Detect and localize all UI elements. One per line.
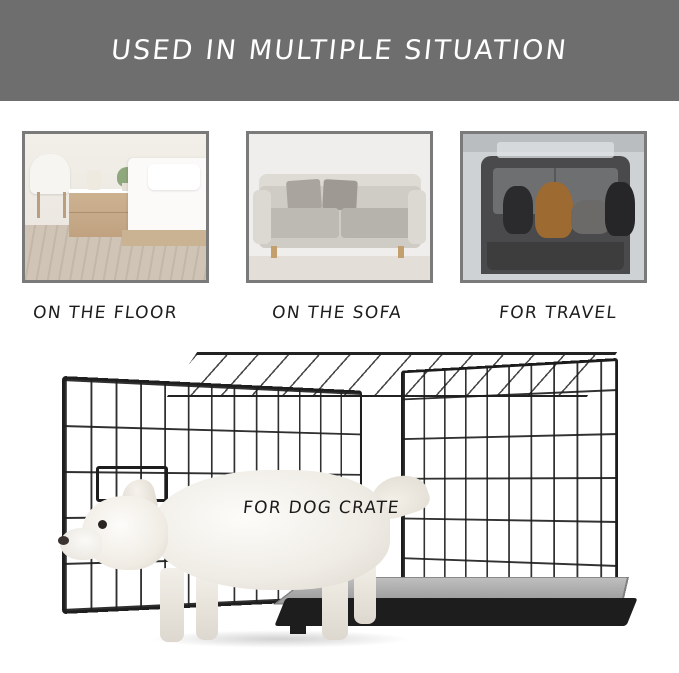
bed-pillow	[148, 164, 200, 190]
sofa-arm-left	[253, 190, 271, 244]
car-rear-window	[497, 142, 614, 158]
chair-leg-left	[37, 192, 40, 218]
dog-nose	[58, 536, 69, 545]
product-infographic: USED IN MULTIPLE SITUATION	[0, 0, 679, 673]
dog-eye	[98, 520, 107, 529]
sofa-leg-left	[271, 246, 277, 258]
caption-on-the-floor: ON THE FLOOR	[32, 303, 179, 323]
sofa-cushion-right	[341, 208, 413, 238]
dog-front-leg-near	[160, 568, 184, 642]
sofa-arm-right	[408, 190, 426, 244]
situation-card-travel	[460, 131, 647, 283]
sofa-pillow-left	[286, 179, 322, 211]
situation-cards	[0, 131, 679, 291]
sofa-cushion-left	[267, 208, 339, 238]
dog-shadow	[150, 630, 410, 648]
chair-leg-right	[63, 192, 66, 218]
sofa-pillow-right	[322, 179, 358, 211]
situation-card-floor	[22, 131, 209, 283]
sofa-floor	[249, 256, 430, 280]
caption-for-dog-crate: FOR DOG CRATE	[242, 498, 401, 518]
bed-base	[122, 230, 206, 246]
travel-dog-4	[605, 182, 635, 236]
car-trunk-floor	[487, 242, 624, 270]
crate-side-panel	[401, 358, 618, 614]
caption-for-travel: FOR TRAVEL	[498, 303, 618, 323]
bedroom-lamp	[87, 170, 101, 190]
dog-body	[150, 470, 390, 590]
sofa-leg-right	[398, 246, 404, 258]
travel-dog-2	[535, 182, 573, 238]
situation-card-sofa	[246, 131, 433, 283]
bedroom-chair	[30, 154, 70, 194]
travel-dog-1	[503, 186, 533, 234]
crate-foot-right	[602, 606, 618, 618]
dog-front-leg-far	[196, 574, 218, 640]
caption-on-the-sofa: ON THE SOFA	[271, 303, 403, 323]
page-title: USED IN MULTIPLE SITUATION	[0, 0, 679, 101]
